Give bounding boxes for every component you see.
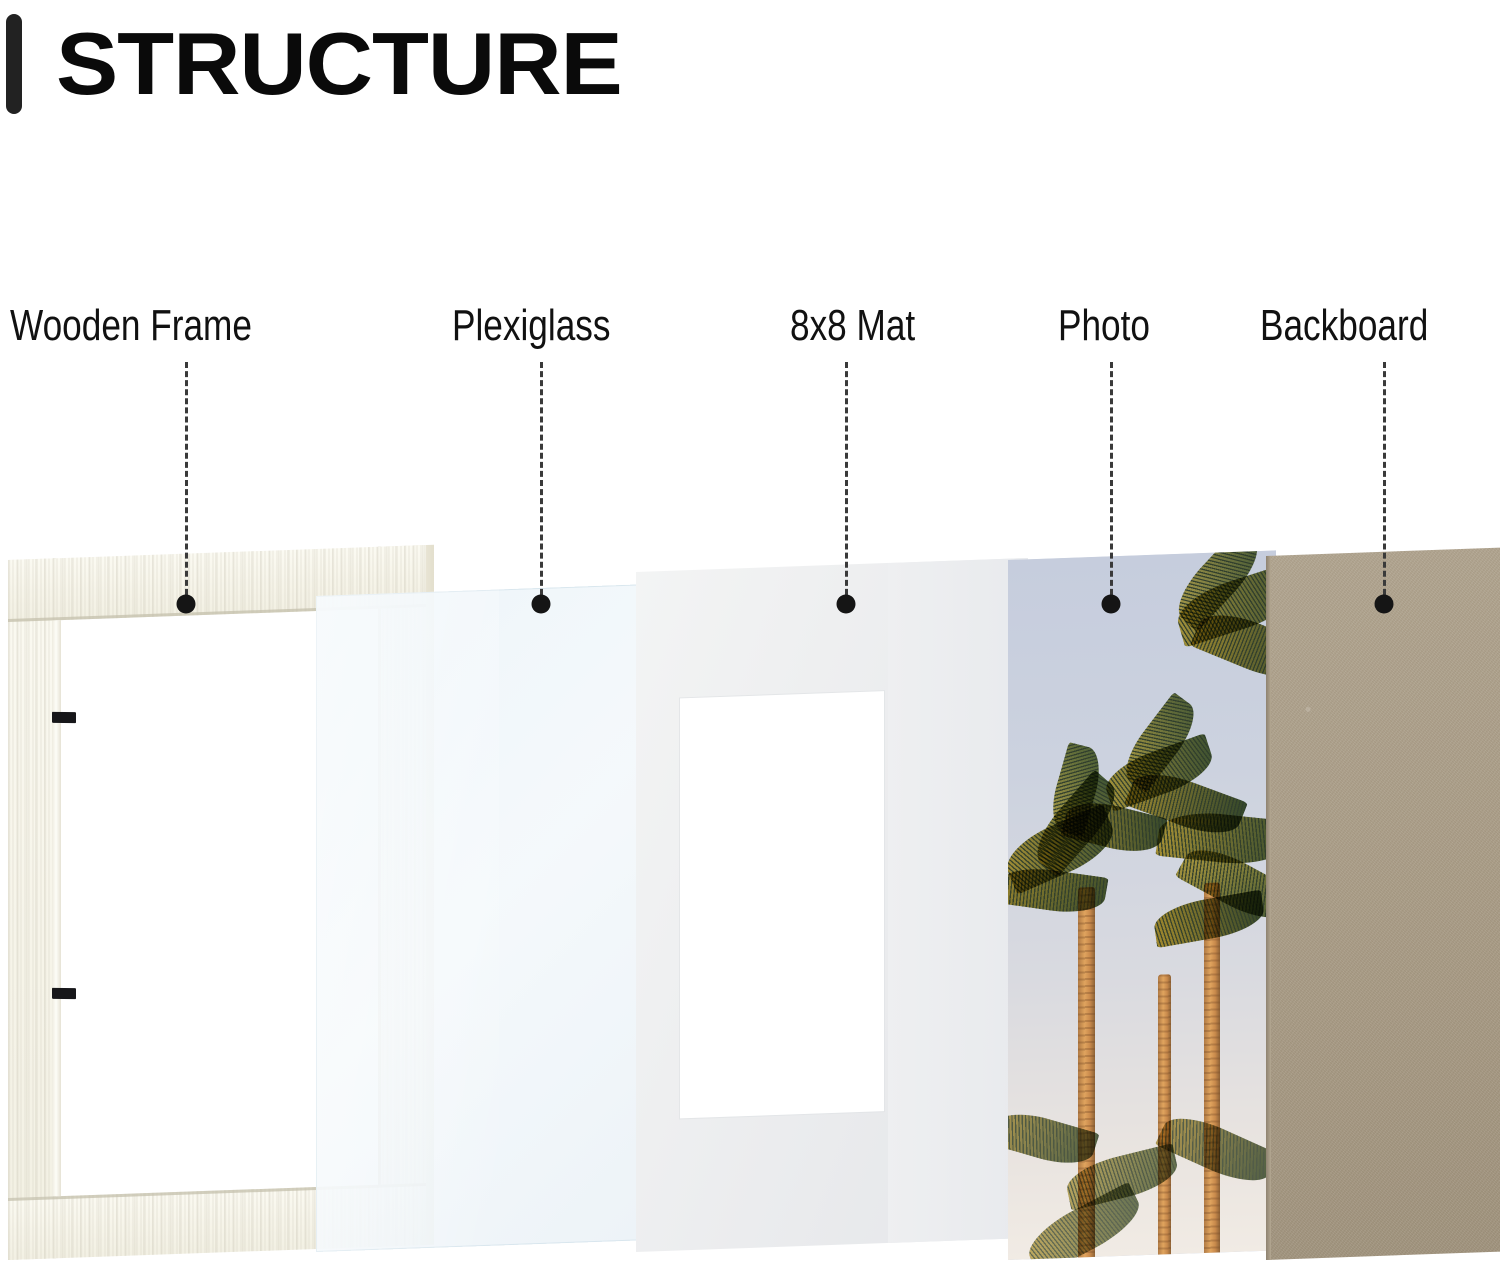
leader-line-backboard	[1383, 362, 1386, 604]
leader-line-plexiglass	[540, 362, 543, 604]
leader-dot-backboard	[1375, 595, 1394, 614]
label-photo: Photo	[1058, 302, 1150, 350]
label-backboard: Backboard	[1260, 302, 1428, 350]
leader-line-mat	[845, 362, 848, 604]
frame-rail-left	[8, 558, 56, 1260]
leader-dot-mat	[837, 595, 856, 614]
plexiglass-sheen	[316, 589, 499, 1252]
label-wooden-frame: Wooden Frame	[10, 302, 252, 350]
frame-inner-rabbet	[52, 620, 61, 1196]
frame-clip-lower	[52, 988, 76, 999]
layer-mat	[636, 558, 1028, 1252]
leader-line-photo	[1110, 362, 1113, 604]
exploded-view-diagram	[0, 0, 1500, 1266]
mat-translucent-zone	[888, 558, 1028, 1243]
leader-dot-plexiglass	[532, 595, 551, 614]
palm-trunk-2	[1158, 974, 1171, 1260]
leader-line-wooden-frame	[185, 362, 188, 604]
backboard-edge	[1266, 556, 1271, 1260]
frame-clip-upper	[52, 712, 76, 723]
leader-dot-photo	[1102, 595, 1121, 614]
layer-backboard	[1266, 548, 1500, 1260]
leader-dot-wooden-frame	[177, 595, 196, 614]
layer-photo	[1008, 550, 1276, 1260]
label-mat: 8x8 Mat	[790, 302, 915, 350]
label-plexiglass: Plexiglass	[452, 302, 610, 350]
mat-window-opening	[680, 691, 884, 1118]
